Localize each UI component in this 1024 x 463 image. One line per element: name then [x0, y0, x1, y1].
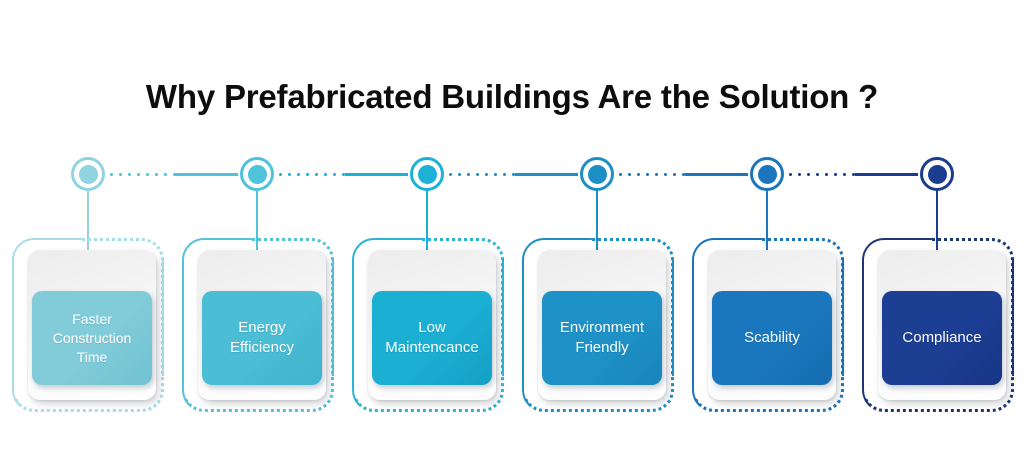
timeline-node-5[interactable]: [750, 157, 784, 191]
node-dot-icon: [79, 165, 98, 184]
card-label-text: EnergyEfficiency: [226, 318, 298, 358]
card-border-right-accent: [502, 258, 504, 376]
timeline-node-6[interactable]: [920, 157, 954, 191]
card-label-text: EnvironmentFriendly: [556, 318, 648, 358]
card-label-box[interactable]: Scability: [712, 291, 832, 385]
card-label-line: Friendly: [575, 339, 628, 356]
connector-dotted-segment: [616, 173, 685, 176]
node-dot-icon: [588, 165, 607, 184]
card-border-right-accent: [162, 258, 164, 376]
connector-dotted-segment: [107, 173, 175, 176]
node-dot-icon: [248, 165, 267, 184]
card-label-box[interactable]: FasterConstructionTime: [32, 291, 152, 385]
benefit-card-environment-friendly[interactable]: EnvironmentFriendly: [520, 236, 696, 418]
connector-dotted-segment: [786, 173, 855, 176]
connector-solid-segment: [855, 173, 918, 176]
benefit-card-energy-efficiency[interactable]: EnergyEfficiency: [180, 236, 356, 418]
node-dot-icon: [758, 165, 777, 184]
card-label-line: Low: [418, 319, 446, 336]
card-label-line: Faster: [72, 311, 112, 327]
node-dot-icon: [418, 165, 437, 184]
card-label-line: Efficiency: [230, 339, 294, 356]
card-label-line: Energy: [238, 319, 286, 336]
card-label-box[interactable]: EnergyEfficiency: [202, 291, 322, 385]
node-dot-icon: [928, 165, 947, 184]
page-title: Why Prefabricated Buildings Are the Solu…: [0, 78, 1024, 116]
benefit-card-compliance[interactable]: Compliance: [860, 236, 1024, 418]
card-label-box[interactable]: LowMaintencance: [372, 291, 492, 385]
card-border-right-accent: [1012, 258, 1014, 376]
connector-dotted-segment: [276, 173, 345, 176]
connector-dotted-segment: [446, 173, 515, 176]
card-border-right-accent: [672, 258, 674, 376]
benefit-card-faster-construction-time[interactable]: FasterConstructionTime: [10, 236, 186, 418]
card-label-text: Scability: [740, 328, 804, 348]
timeline-node-1[interactable]: [71, 157, 105, 191]
card-label-text: LowMaintencance: [381, 318, 482, 358]
connector-solid-segment: [345, 173, 408, 176]
card-label-line: Construction: [53, 330, 132, 346]
card-label-line: Environment: [560, 319, 644, 336]
timeline-node-2[interactable]: [240, 157, 274, 191]
infographic-canvas: Why Prefabricated Buildings Are the Solu…: [0, 0, 1024, 463]
card-label-line: Maintencance: [385, 339, 478, 356]
card-label-line: Time: [77, 349, 108, 365]
connector-solid-segment: [175, 173, 238, 176]
card-label-line: Scability: [744, 329, 800, 346]
timeline-node-3[interactable]: [410, 157, 444, 191]
card-label-box[interactable]: EnvironmentFriendly: [542, 291, 662, 385]
benefit-card-low-maintencance[interactable]: LowMaintencance: [350, 236, 526, 418]
card-border-right-accent: [332, 258, 334, 376]
card-label-text: Compliance: [898, 328, 985, 348]
card-label-text: FasterConstructionTime: [49, 310, 136, 367]
timeline-node-4[interactable]: [580, 157, 614, 191]
card-label-box[interactable]: Compliance: [882, 291, 1002, 385]
benefit-card-scability[interactable]: Scability: [690, 236, 866, 418]
connector-solid-segment: [515, 173, 578, 176]
card-border-right-accent: [842, 258, 844, 376]
card-label-line: Compliance: [902, 329, 981, 346]
connector-solid-segment: [685, 173, 748, 176]
